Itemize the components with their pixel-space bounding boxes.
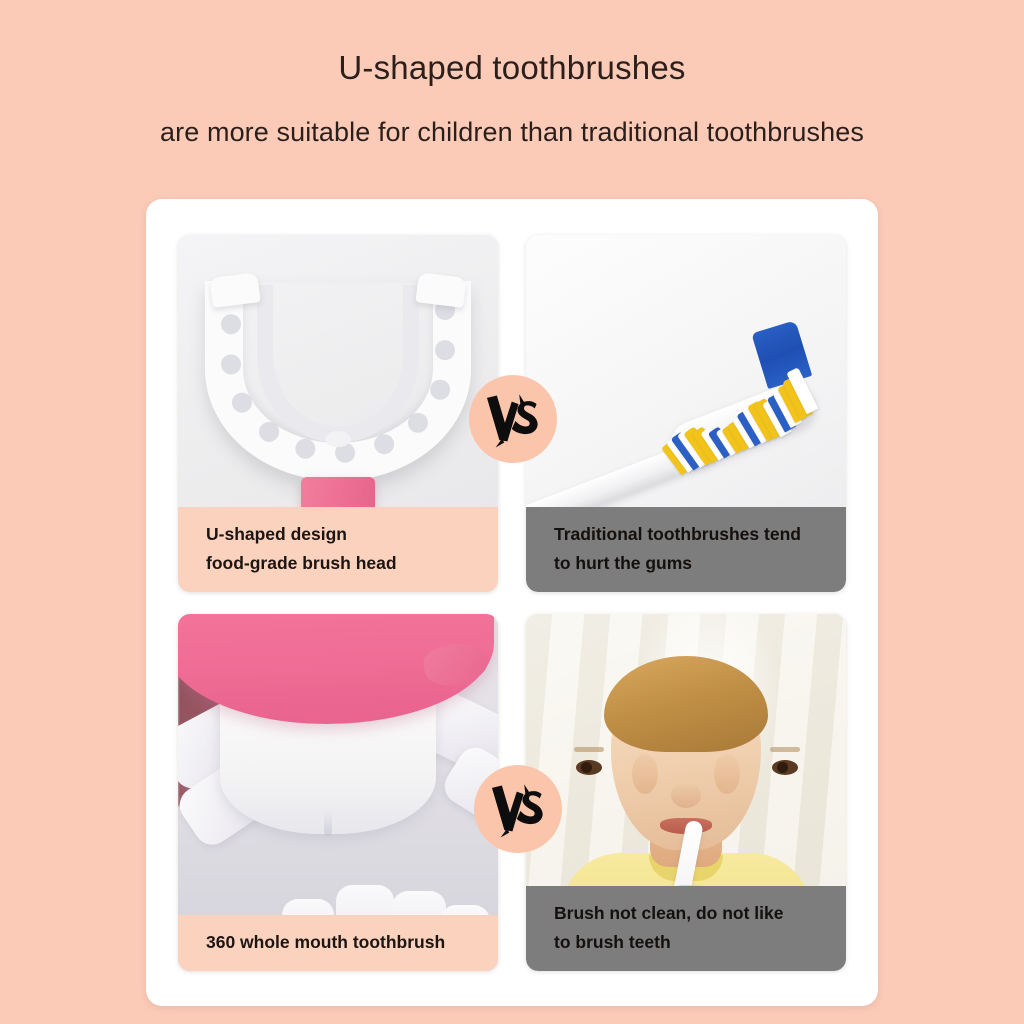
caption-line-1: 360 whole mouth toothbrush [206, 928, 480, 956]
vs-badge-bottom [474, 765, 562, 853]
panel-caption: Brush not clean, do not like to brush te… [526, 886, 846, 971]
caption-line-2: food-grade brush head [206, 549, 480, 577]
page-subtitle: are more suitable for children than trad… [0, 88, 1024, 148]
header: U-shaped toothbrushes are more suitable … [0, 0, 1024, 148]
brush-tip-left [209, 272, 260, 308]
child-eye-right [576, 760, 602, 775]
caption-line-1: U-shaped design [206, 520, 480, 548]
child-eyebrow-right [574, 747, 604, 752]
page-title: U-shaped toothbrushes [0, 0, 1024, 88]
brush-tip-right [415, 272, 466, 308]
infographic-page: U-shaped toothbrushes are more suitable … [0, 0, 1024, 1024]
panel-caption: U-shaped design food-grade brush head [178, 507, 498, 592]
child-ear-left [714, 754, 740, 794]
comparison-card: U-shaped design food-grade brush head Tr… [146, 199, 878, 1006]
panel-caption: 360 whole mouth toothbrush [178, 915, 498, 971]
child-ear-right [632, 754, 658, 794]
comparison-grid: U-shaped design food-grade brush head Tr… [178, 235, 846, 971]
caption-line-1: Brush not clean, do not like [554, 899, 828, 927]
panel-whole-mouth-coverage: 360 whole mouth toothbrush [178, 614, 498, 971]
caption-line-2: to brush teeth [554, 928, 828, 956]
panel-traditional-toothbrush: Traditional toothbrushes tend to hurt th… [526, 235, 846, 592]
panel-caption: Traditional toothbrushes tend to hurt th… [526, 507, 846, 592]
child-eye-left [772, 760, 798, 775]
panel-u-shaped-brush-head: U-shaped design food-grade brush head [178, 235, 498, 592]
vs-icon [487, 778, 549, 840]
child-nose [671, 782, 701, 808]
child-eyebrow-left [770, 747, 800, 752]
panel-child-not-brushing-well: Brush not clean, do not like to brush te… [526, 614, 846, 971]
caption-line-1: Traditional toothbrushes tend [554, 520, 828, 548]
vs-icon [482, 388, 544, 450]
brush-center-nub [325, 431, 351, 447]
vs-badge-top [469, 375, 557, 463]
caption-line-2: to hurt the gums [554, 549, 828, 577]
u-shaped-brush-illustration [205, 281, 471, 521]
